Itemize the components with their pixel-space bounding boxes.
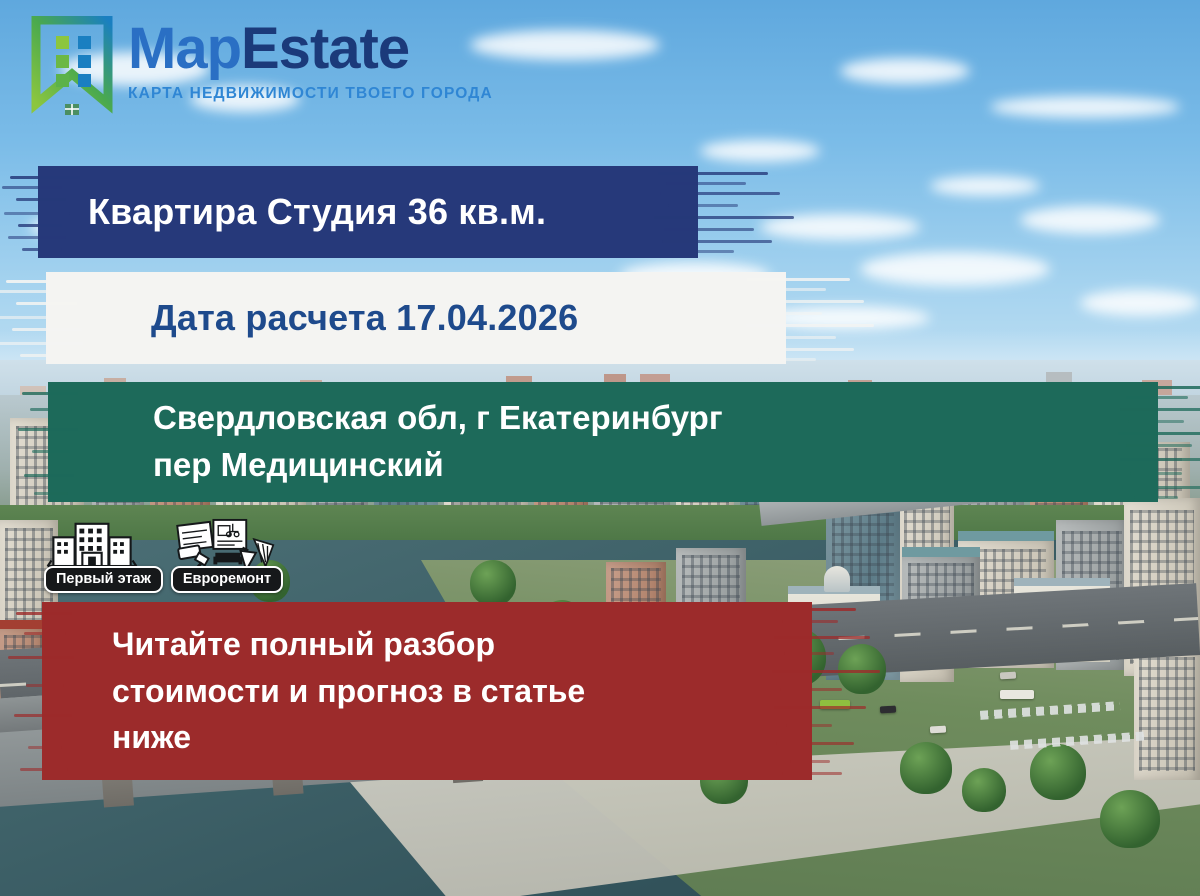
date-banner: Дата расчета 17.04.2026 (46, 272, 786, 364)
cta-line-2: стоимости и прогноз в статье (112, 668, 585, 714)
cloud (700, 140, 820, 162)
apartment-banner-text: Квартира Студия 36 кв.м. (38, 191, 546, 233)
cta-banner-text: Читайте полный разбор стоимости и прогно… (42, 621, 585, 760)
tree (1030, 744, 1086, 800)
cloud (930, 176, 1040, 196)
badge-first-floor-label: Первый этаж (44, 566, 163, 593)
cloud (860, 252, 1050, 286)
cloud (1020, 206, 1160, 234)
header: MapEstate КАРТА НЕДВИЖИМОСТИ ТВОЕГО ГОРО… (0, 0, 1200, 130)
brand-name: MapEstate (128, 20, 493, 78)
brand-tagline: КАРТА НЕДВИЖИМОСТИ ТВОЕГО ГОРОДА (128, 85, 493, 103)
address-line-2: пер Медицинский (153, 442, 723, 489)
car (880, 706, 896, 714)
bookmark-building-logo-icon (30, 16, 114, 116)
brand-logo[interactable]: MapEstate КАРТА НЕДВИЖИМОСТИ ТВОЕГО ГОРО… (30, 16, 493, 116)
badge-first-floor[interactable]: Первый этаж (44, 518, 163, 593)
building (1134, 648, 1200, 780)
tree (838, 644, 886, 694)
car (1000, 672, 1016, 680)
date-banner-text: Дата расчета 17.04.2026 (46, 297, 578, 339)
tree (1100, 790, 1160, 848)
address-banner-text: Свердловская обл, г Екатеринбург пер Мед… (48, 395, 723, 489)
apartment-banner: Квартира Студия 36 кв.м. (38, 166, 698, 258)
cta-banner: Читайте полный разбор стоимости и прогно… (42, 602, 812, 780)
badge-euro-renovation-label: Евроремонт (171, 566, 283, 593)
car (930, 726, 946, 734)
cloud (1080, 290, 1200, 316)
tree (962, 768, 1006, 812)
address-banner: Свердловская обл, г Екатеринбург пер Мед… (48, 382, 1158, 502)
cta-line-1: Читайте полный разбор (112, 621, 585, 667)
brand-name-part1: Map (128, 16, 241, 81)
bus (1000, 690, 1034, 699)
feature-badges: Первый этаж (44, 518, 283, 593)
cta-line-3: ниже (112, 714, 585, 760)
dome (824, 566, 850, 592)
address-line-1: Свердловская обл, г Екатеринбург (153, 395, 723, 442)
tree (470, 560, 516, 606)
tree (900, 742, 952, 794)
brand-name-part2: Estate (241, 16, 409, 81)
badge-euro-renovation[interactable]: Евроремонт (171, 518, 283, 593)
